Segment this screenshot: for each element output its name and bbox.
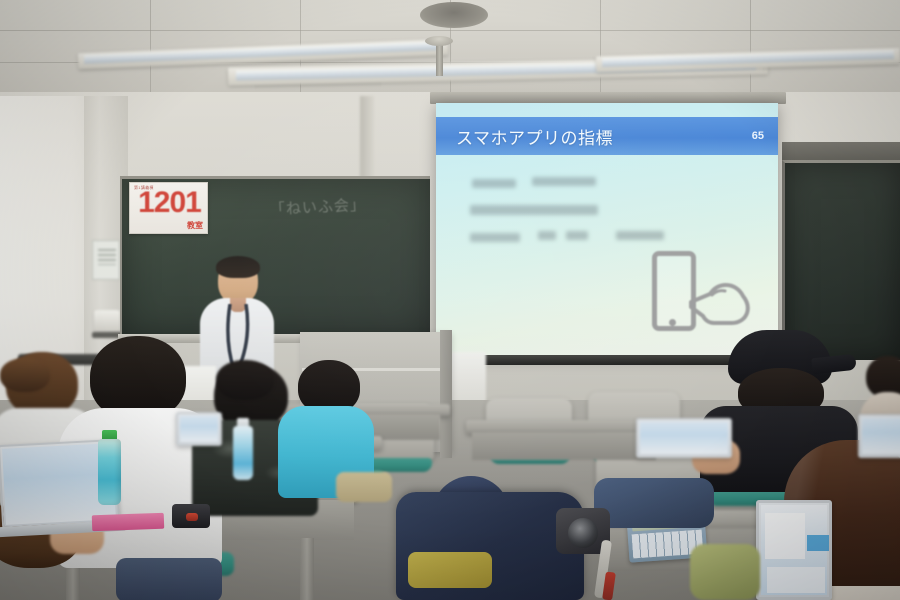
laptop-window-2 [767,567,825,593]
slide-body-line-3c [566,231,588,240]
black-desk-object [172,504,210,528]
desk-leg [300,538,314,600]
blue-bag [594,478,714,528]
slide-body-line-1a [472,179,516,188]
pointing-hand-icon [688,277,752,327]
slide-body-line-3a [470,233,520,242]
room-number-sign: 第1講義棟 1201 教室 [129,182,208,234]
blackboard-right-frame [782,142,900,162]
pink-notebook [92,513,165,532]
bottle-body [98,439,121,505]
olive-bag [690,544,760,600]
slide-title-bar: スマホアプリの指標 65 [436,117,778,155]
front-panel-edge [440,330,452,458]
student-shorts [336,472,392,502]
laptop-screen-content [180,416,218,442]
student-head-back-row [0,358,50,392]
bottle-body [233,426,253,480]
backpack-yellow-accent [408,552,492,588]
laptop-screen-content [862,418,900,454]
phone-home-button-icon [669,319,676,326]
slide-body-line-2 [470,205,598,215]
laptop-screen-back[interactable] [176,412,222,446]
slide-body-line-1b [532,177,596,186]
drink-bottle-green [96,430,122,506]
student-jeans [116,558,222,600]
presenter-hair [216,256,260,278]
student-head-back-row [216,360,274,400]
slide-page-number: 65 [752,130,764,142]
laptop-screen-far-right[interactable] [858,414,900,458]
laptop-screen-mid[interactable] [636,418,732,458]
laptop-screen-content [640,422,728,454]
laptop-window [765,513,805,559]
laptop-window-accent [807,535,832,551]
laptop-screen-foreground[interactable] [756,500,832,600]
cap-brim-icon [811,354,856,375]
laptop-screen-content [761,505,827,595]
room-number-text: 1201 [132,188,207,218]
red-accent [186,513,198,521]
smartphone-tap-icon [648,251,752,335]
camera-lens-icon [568,518,598,548]
ceiling-pendant-mount [425,36,453,46]
classroom-photo-scene: 「ねいふ会」 第1講義棟 1201 教室 スマホアプリの指標 65 [0,0,900,600]
wall-mounted-speaker [94,310,120,332]
slide-body-line-3d [616,231,664,240]
wall-notice-sign [92,240,120,280]
slide-body-line-3b [538,231,556,240]
ceiling-vent-icon [420,2,488,28]
drink-bottle-blue [232,418,254,480]
blackboard-chalk-text: 「ねいふ会」 [269,194,362,225]
slide-title-text: スマホアプリの指標 [456,124,613,149]
student-desk-panel [472,432,656,460]
projection-screen: スマホアプリの指標 65 [436,103,778,355]
room-sign-suffix: 教室 [187,220,203,231]
